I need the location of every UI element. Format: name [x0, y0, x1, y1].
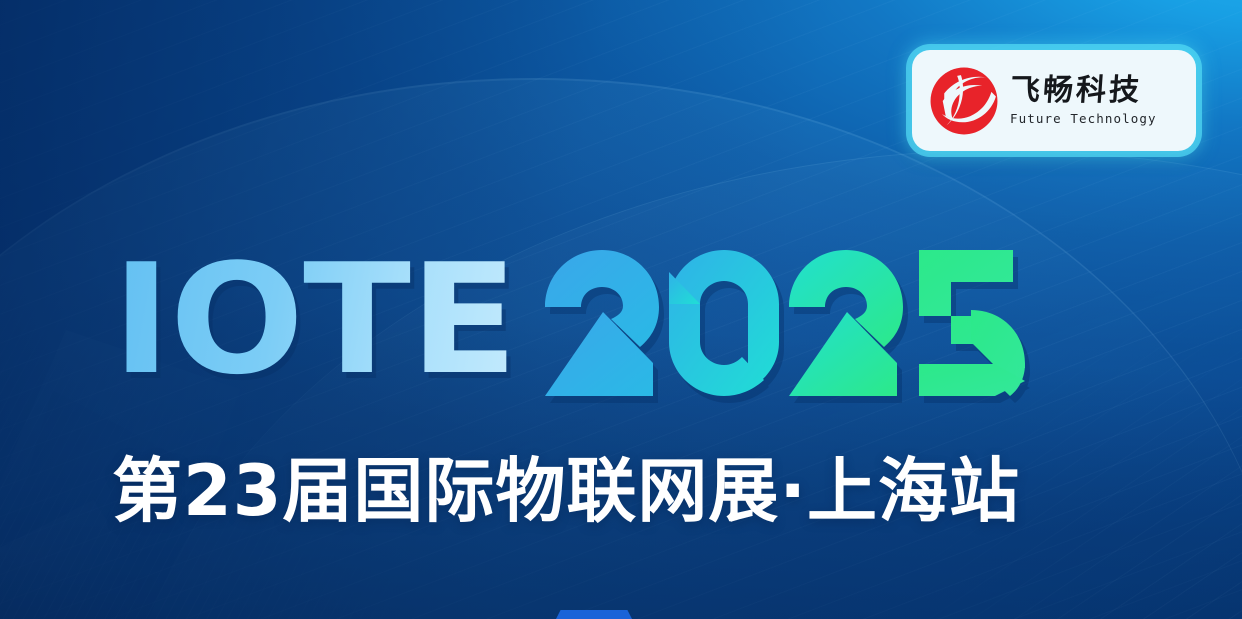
banner-canvas: 飞畅科技 Future Technology IOTE	[0, 0, 1242, 619]
feichang-emblem-icon	[926, 63, 1002, 139]
event-title: IOTE	[112, 246, 1025, 396]
company-name-en: Future Technology	[1010, 111, 1157, 126]
company-name-cn: 飞畅科技	[1009, 75, 1158, 107]
bottom-accent-tab	[556, 610, 632, 619]
year-digit-5	[913, 250, 1025, 396]
year-digit-2	[545, 250, 659, 396]
event-acronym: IOTE	[112, 246, 517, 395]
company-logo-text: 飞畅科技 Future Technology	[1010, 75, 1157, 126]
event-subtitle: 第23届国际物联网展·上海站	[112, 452, 1020, 530]
company-logo-card[interactable]: 飞畅科技 Future Technology	[912, 50, 1196, 151]
year-digit-2b	[789, 250, 903, 396]
year-digit-0	[669, 250, 779, 396]
event-year	[545, 250, 1025, 396]
